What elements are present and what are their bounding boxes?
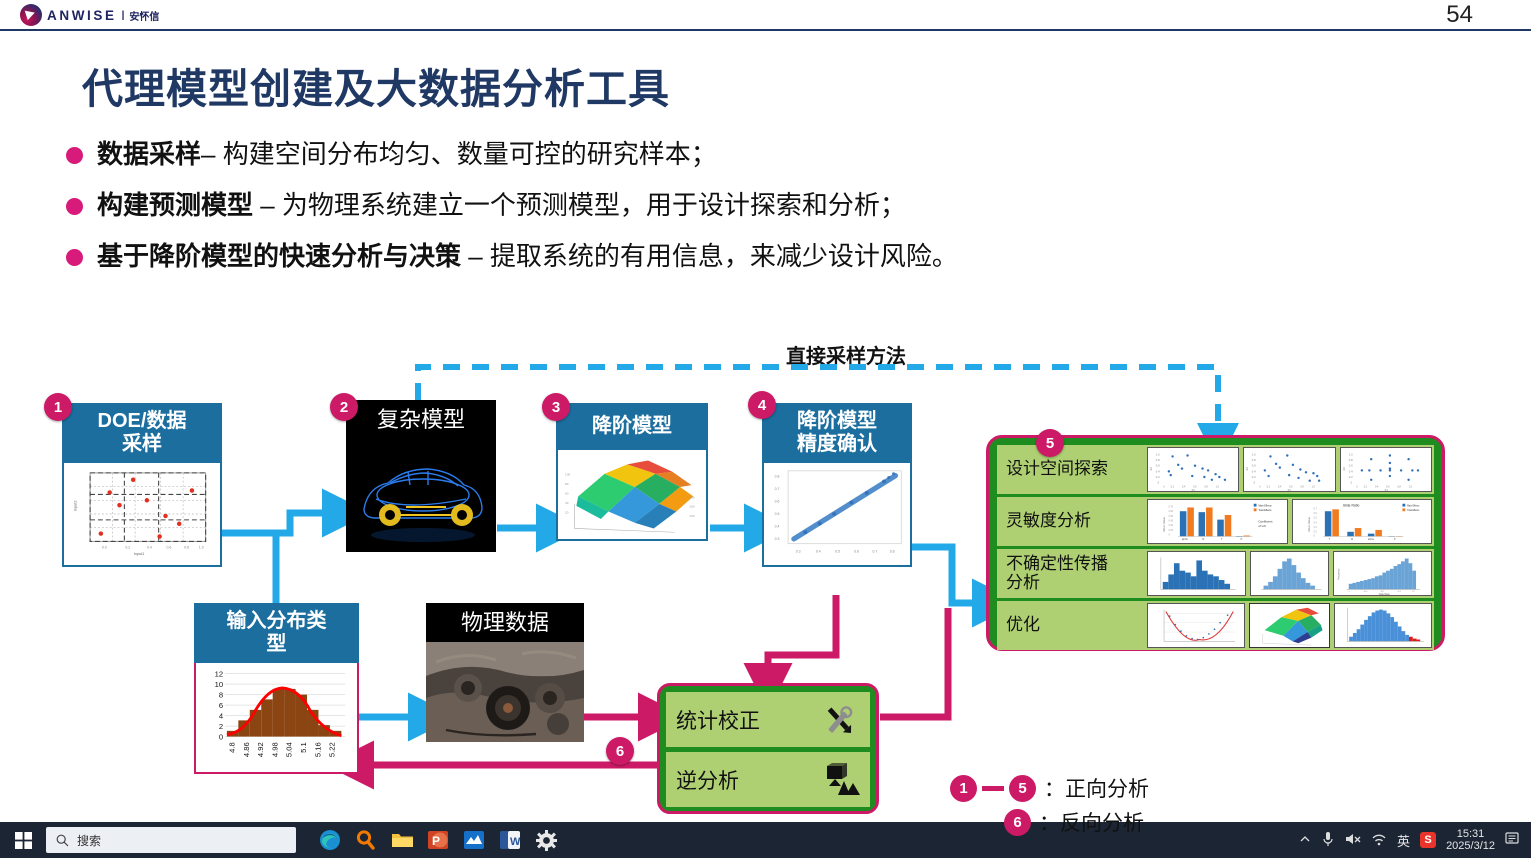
card-physical-data-image: [426, 642, 584, 742]
thumb-bar-glide-ratio: Glide Ratio Mean Value 0.70.60.5 0.40.30…: [1292, 499, 1433, 544]
svg-text:Frequency: Frequency: [1338, 568, 1341, 580]
legend-dash-icon: [982, 786, 1004, 791]
speaker-mute-icon[interactable]: [1345, 832, 1361, 849]
settings-gear-icon[interactable]: [532, 826, 560, 854]
card-rom[interactable]: 降阶模型: [556, 403, 708, 541]
start-icon: [15, 832, 32, 849]
page-number: 54: [1446, 1, 1473, 29]
tools-icon: [820, 703, 860, 737]
svg-text:0.30: 0.30: [1169, 525, 1174, 527]
svg-text:X2: X2: [1245, 467, 1249, 471]
card-complex-title: 复杂模型: [346, 400, 496, 439]
list-item: 基于降阶模型的快速分析与决策 – 提取系统的有用信息，来减少设计风险。: [66, 240, 1466, 272]
correlation-scatter-icon: 0.80.70.6 0.50.40.3 0.30.40.5 0.60.70.8: [767, 466, 907, 562]
search-orange-icon[interactable]: [352, 826, 380, 854]
panel-analysis-capabilities[interactable]: 设计空间探索 1.00.80.60.40.20 X2: [986, 435, 1445, 651]
svg-text:Total Effects: Total Effects: [1258, 509, 1272, 512]
diagram-legend: 1 5 ：正向分析 6 ：反向分析: [950, 773, 1149, 841]
svg-text:150: 150: [690, 505, 695, 509]
svg-text:0.6: 0.6: [854, 549, 859, 553]
svg-text:46.6: 46.6: [1364, 591, 1368, 593]
svg-text:5.22: 5.22: [328, 742, 337, 757]
arrow-romacc-to-panel5: [912, 547, 986, 603]
svg-text:X2: X2: [1342, 467, 1346, 471]
bullet-bold: 基于降阶模型的快速分析与决策: [97, 241, 461, 271]
svg-text:0.4: 0.4: [1156, 469, 1160, 473]
svg-text:0.4: 0.4: [1252, 469, 1256, 473]
surface-3d-icon: 1008060 4020 200150100: [561, 453, 703, 536]
svg-text:0.4: 0.4: [775, 524, 780, 528]
svg-text:Total Effects: Total Effects: [1407, 509, 1420, 512]
panel-row-thumbs: [1145, 601, 1434, 650]
arrow-romacc-to-box6: [768, 595, 836, 677]
thumb-hist-b: [1250, 551, 1329, 596]
svg-text:Coefficient: Coefficient: [1258, 519, 1272, 523]
svg-text:0.2: 0.2: [1156, 475, 1160, 479]
panel-row-thumbs: Mean Value 0.700.600.50 0.400.300.200: [1145, 497, 1434, 546]
card-doe-chart: input2 input1 0.00.20.4 0.60.81.0: [62, 463, 222, 567]
svg-text:0.6: 0.6: [1348, 464, 1352, 468]
bullet-rest: – 为物理系统建立一个预测模型，用于设计探索和分析；: [253, 190, 906, 220]
box6-item-label: 统计校正: [676, 705, 760, 735]
list-item: 数据采样– 构建空间分布均匀、数量可控的研究样本；: [66, 138, 1466, 170]
thumb-scatter-b: 1.00.80.60.40.20 X2 00.20.40.60.81.0 X1: [1243, 447, 1335, 492]
system-tray: 英 S 15:31 2025/3/12: [1299, 822, 1521, 858]
legend-badge-single: 6: [1004, 809, 1031, 836]
svg-text:0.3: 0.3: [775, 537, 780, 541]
svg-text:0.4: 0.4: [816, 549, 821, 553]
svg-text:2: 2: [219, 722, 223, 731]
arrow-box6-to-panel5: [880, 608, 948, 717]
thumb-scatter-a: 1.00.80.60.40.20 X2 00.20.40.60.81.0 X1: [1147, 447, 1239, 492]
thumb-hist-a: .: [1147, 551, 1246, 596]
box6-item-statistical-calibration[interactable]: 统计校正: [666, 692, 870, 747]
svg-text:50.4: 50.4: [1398, 591, 1402, 593]
bullet-dot-icon: [66, 198, 83, 215]
app-header: ANWISE | 安怀信 54: [0, 0, 1531, 31]
svg-text:6: 6: [219, 701, 223, 710]
bullet-rest: – 提取系统的有用信息，来减少设计风险。: [461, 241, 958, 271]
badge-5: 5: [1036, 429, 1064, 457]
engine-photo-icon: [426, 642, 584, 742]
panel-row-design-space[interactable]: 设计空间探索 1.00.80.60.40.20 X2: [997, 445, 1434, 494]
list-item: 构建预测模型 – 为物理系统建立一个预测模型，用于设计探索和分析；: [66, 189, 1466, 221]
panel-row-sensitivity[interactable]: 灵敏度分析 Mean Value 0.700.600.50 0.400.300.…: [997, 497, 1434, 546]
svg-text:5.04: 5.04: [285, 742, 294, 758]
svg-text:0: 0: [1349, 591, 1350, 593]
panel-row-label: 设计空间探索: [997, 445, 1145, 494]
box6-item-inverse-analysis[interactable]: 逆分析: [666, 752, 870, 807]
card-input-distribution[interactable]: 输入分布类 型: [194, 603, 359, 774]
svg-text:0.70: 0.70: [1169, 506, 1174, 508]
bullet-bold: 构建预测模型: [97, 190, 253, 220]
svg-text:X1: X1: [1384, 488, 1388, 491]
thumb-hist-red-tail: [1334, 603, 1432, 648]
svg-text:0.6: 0.6: [166, 545, 171, 549]
svg-text:M: M: [1202, 538, 1204, 541]
svg-text:10: 10: [215, 680, 223, 689]
svg-text:X1: X1: [1191, 488, 1195, 491]
card-complex-image: [346, 439, 496, 552]
panel-row-thumbs: .: [1145, 549, 1434, 598]
svg-text:5.16: 5.16: [313, 742, 322, 757]
chevron-up-icon[interactable]: [1299, 833, 1311, 848]
workflow-diagram: 直接采样方法: [0, 325, 1531, 825]
panel-row-label: 不确定性传播 分析: [997, 549, 1145, 598]
search-placeholder-text: 搜索: [77, 832, 101, 849]
svg-text:input1: input1: [134, 551, 145, 556]
panel-row-optimization[interactable]: 优化: [997, 601, 1434, 650]
svg-text:0.7: 0.7: [775, 487, 780, 491]
svg-text:40: 40: [565, 501, 569, 505]
card-rom-accuracy-title: 降阶模型 精度确认: [762, 403, 912, 463]
thumb-curve-fit: [1147, 603, 1245, 648]
anwise-logo-mark-icon: [20, 4, 42, 26]
svg-text:0.60: 0.60: [1169, 511, 1174, 513]
svg-text:0.8: 0.8: [1156, 458, 1160, 462]
svg-text:1.0: 1.0: [1348, 452, 1352, 456]
svg-text:0.8: 0.8: [1348, 458, 1352, 462]
box-inverse-analysis[interactable]: 统计校正 逆分析: [657, 683, 879, 814]
svg-text:of Lift: of Lift: [1258, 524, 1265, 528]
card-doe-title: DOE/数据 采样: [62, 403, 222, 463]
svg-text:Mean Value: Mean Value: [1162, 517, 1166, 532]
search-input[interactable]: 搜索: [46, 827, 296, 853]
panel-row-label: 优化: [997, 601, 1145, 650]
panel-row-label: 灵敏度分析: [997, 497, 1145, 546]
car-image-icon: [346, 439, 496, 552]
svg-text:4.98: 4.98: [270, 742, 279, 757]
svg-text:X2: X2: [1149, 467, 1153, 471]
legend-badge-to: 5: [1009, 775, 1036, 802]
svg-text:X1: X1: [1288, 488, 1292, 491]
svg-text:0: 0: [219, 732, 223, 741]
svg-text:Main Effects: Main Effects: [1407, 505, 1420, 508]
svg-text:48.2: 48.2: [1381, 591, 1385, 593]
bullet-list: 数据采样– 构建空间分布均匀、数量可控的研究样本； 构建预测模型 – 为物理系统…: [66, 138, 1466, 292]
svg-text:0.50: 0.50: [1169, 516, 1174, 518]
thumb-scatter-grid: 1.00.80.60.40.20 X2 00.20.40.60.81.0 X1: [1340, 447, 1432, 492]
logo-separator: |: [122, 10, 125, 21]
svg-text:4.8: 4.8: [228, 742, 237, 753]
badge-6: 6: [606, 737, 634, 765]
panel-row-thumbs: 1.00.80.60.40.20 X2 00.20.40.60.81.0 X1: [1145, 445, 1434, 494]
svg-text:0.40: 0.40: [1169, 521, 1174, 523]
svg-text:0.6: 0.6: [1252, 464, 1256, 468]
word-icon[interactable]: W: [496, 826, 524, 854]
slide-canvas: 代理模型创建及大数据分析工具 数据采样– 构建空间分布均匀、数量可控的研究样本；…: [0, 33, 1531, 822]
logo-text: ANWISE: [47, 8, 117, 23]
svg-text:Glide Ratio: Glide Ratio: [1379, 593, 1391, 595]
svg-text:0.6: 0.6: [775, 499, 780, 503]
svg-text:Glide Ratio: Glide Ratio: [1342, 504, 1359, 508]
panel-row-uncertainty[interactable]: 不确定性传播 分析: [997, 549, 1434, 598]
svg-text:0.2: 0.2: [1348, 475, 1352, 479]
svg-text:0.6: 0.6: [1156, 464, 1160, 468]
legend-label-reverse: ：反向分析: [1039, 807, 1144, 837]
clock-time: 15:31: [1446, 828, 1495, 840]
ime-icon[interactable]: 英: [1397, 831, 1410, 850]
clock[interactable]: 15:31 2025/3/12: [1446, 828, 1495, 853]
badge-4: 4: [748, 391, 776, 419]
microphone-icon[interactable]: [1321, 831, 1335, 850]
svg-text:100: 100: [565, 473, 570, 477]
svg-text:alpha: alpha: [1182, 538, 1189, 541]
taskbar-apps: P W: [316, 826, 560, 854]
badge-3: 3: [542, 393, 570, 421]
svg-text:0.2: 0.2: [125, 545, 130, 549]
svg-text:0.8: 0.8: [1252, 458, 1256, 462]
svg-text:12: 12: [215, 669, 223, 678]
card-rom-accuracy[interactable]: 降阶模型 精度确认 0.80.70.6: [762, 403, 912, 567]
bullet-text: 基于降阶模型的快速分析与决策 – 提取系统的有用信息，来减少设计风险。: [97, 240, 958, 272]
svg-text:Mean Value: Mean Value: [1306, 517, 1310, 532]
card-physical-data-title: 物理数据: [426, 603, 584, 642]
windows-taskbar: 搜索 P: [0, 822, 1531, 858]
svg-text:0.3: 0.3: [796, 549, 801, 553]
card-input-distribution-chart: 12108 642 0 4.8 4.86 4.92 4.98 5.04 5.1 …: [194, 663, 359, 774]
edge-icon[interactable]: [316, 826, 344, 854]
svg-text:W: W: [510, 836, 521, 848]
card-physical-data[interactable]: 物理数据: [426, 603, 584, 742]
svg-text:4.86: 4.86: [242, 742, 251, 757]
svg-text:0.4: 0.4: [147, 545, 152, 549]
histogram-normal-icon: 12108 642 0 4.8 4.86 4.92 4.98 5.04 5.1 …: [199, 666, 354, 769]
svg-text:0.0: 0.0: [102, 545, 107, 549]
svg-text:0.7: 0.7: [872, 549, 877, 553]
box6-item-label: 逆分析: [676, 765, 739, 795]
thumb-surface-opt: [1249, 603, 1331, 648]
svg-text:60: 60: [565, 492, 569, 496]
bullet-dot-icon: [66, 147, 83, 164]
svg-text:1.0: 1.0: [1252, 452, 1256, 456]
legend-row-forward: 1 5 ：正向分析: [950, 773, 1149, 803]
legend-badge-from: 1: [950, 775, 977, 802]
bullet-text: 构建预测模型 – 为物理系统建立一个预测模型，用于设计探索和分析；: [97, 189, 906, 221]
thumb-bar-coefficient-of-lift: Mean Value 0.700.600.50 0.400.300.200: [1147, 499, 1288, 544]
anwise-logo: ANWISE | 安怀信: [20, 4, 159, 26]
bullet-text: 数据采样– 构建空间分布均匀、数量可控的研究样本；: [97, 138, 717, 170]
svg-text:1.0: 1.0: [1156, 452, 1160, 456]
svg-text:8: 8: [219, 690, 223, 699]
shapes-icon: [820, 763, 860, 797]
svg-text:80: 80: [565, 482, 569, 486]
svg-text:1.0: 1.0: [199, 545, 204, 549]
card-doe-sampling[interactable]: DOE/数据 采样: [62, 403, 222, 567]
thumb-hist-c: Frequency: [1333, 551, 1432, 596]
notification-icon[interactable]: [1505, 831, 1521, 849]
powerpoint-icon[interactable]: P: [424, 826, 452, 854]
svg-text:M: M: [1351, 538, 1353, 541]
svg-text:100: 100: [690, 514, 695, 518]
card-rom-chart: 1008060 4020 200150100: [556, 450, 708, 541]
bullet-rest: – 构建空间分布均匀、数量可控的研究样本；: [201, 139, 717, 169]
page-title: 代理模型创建及大数据分析工具: [82, 55, 670, 115]
svg-text:input2: input2: [72, 500, 77, 511]
svg-text:200: 200: [690, 495, 695, 499]
card-input-distribution-title: 输入分布类 型: [194, 603, 359, 663]
bullet-dot-icon: [66, 249, 83, 266]
svg-text:alpha: alpha: [1367, 538, 1374, 541]
svg-text:0.8: 0.8: [184, 545, 189, 549]
sogou-icon[interactable]: S: [1420, 832, 1436, 848]
clock-date: 2025/3/12: [1446, 840, 1495, 852]
badge-1: 1: [44, 393, 72, 421]
svg-text:4.92: 4.92: [256, 742, 265, 757]
arrow-doe-to-complex: [222, 513, 336, 533]
start-button[interactable]: [0, 832, 46, 849]
card-rom-accuracy-chart: 0.80.70.6 0.50.40.3 0.30.40.5 0.60.70.8: [762, 463, 912, 567]
legend-row-reverse: 6 ：反向分析: [1004, 807, 1149, 837]
svg-text:0.8: 0.8: [890, 549, 895, 553]
logo-text-chinese: 安怀信: [129, 8, 159, 23]
svg-text:Main Effects: Main Effects: [1258, 505, 1272, 508]
svg-text:20: 20: [565, 510, 569, 514]
badge-2: 2: [330, 393, 358, 421]
bullet-bold: 数据采样: [97, 139, 201, 169]
legend-label-forward: ：正向分析: [1044, 773, 1149, 803]
card-complex-model[interactable]: 复杂模型: [346, 400, 496, 552]
search-icon: [56, 834, 69, 847]
svg-text:0.20: 0.20: [1169, 530, 1174, 532]
svg-text:0.4: 0.4: [1348, 469, 1352, 473]
svg-text:0.2: 0.2: [1252, 475, 1256, 479]
svg-text:0.5: 0.5: [775, 512, 780, 516]
svg-text:5.1: 5.1: [299, 742, 308, 753]
svg-text:P: P: [432, 834, 440, 848]
blue-app-icon[interactable]: [460, 826, 488, 854]
scatter-doe-icon: input2 input1 0.00.20.4 0.60.81.0: [68, 467, 216, 561]
card-rom-title: 降阶模型: [556, 403, 708, 450]
svg-text:0.5: 0.5: [835, 549, 840, 553]
wifi-icon[interactable]: [1371, 832, 1387, 849]
svg-text:52: 52: [1413, 591, 1415, 593]
folder-icon[interactable]: [388, 826, 416, 854]
svg-text:0.8: 0.8: [775, 475, 780, 479]
